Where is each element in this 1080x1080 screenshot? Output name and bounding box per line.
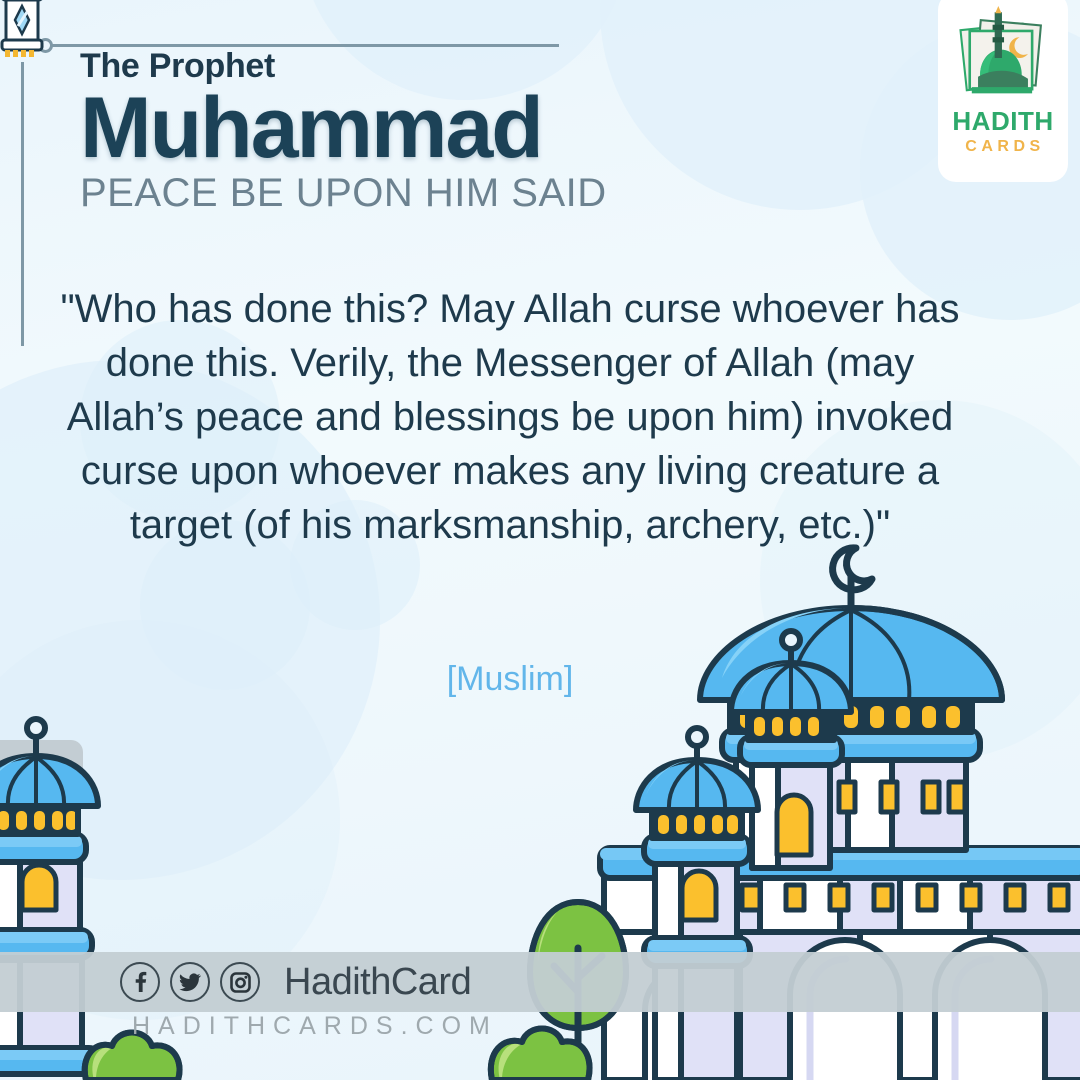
mosque-illustration xyxy=(0,0,1080,1080)
hadith-card: The Prophet Muhammad PEACE BE UPON HIM S… xyxy=(0,0,1080,1080)
footer-social-group: HadithCard xyxy=(120,952,471,1012)
social-handle: HadithCard xyxy=(284,961,471,1004)
instagram-icon[interactable] xyxy=(220,962,260,1002)
website-url: HADITHCARDS.COM xyxy=(132,1012,498,1041)
twitter-icon[interactable] xyxy=(170,962,210,1002)
facebook-icon[interactable] xyxy=(120,962,160,1002)
